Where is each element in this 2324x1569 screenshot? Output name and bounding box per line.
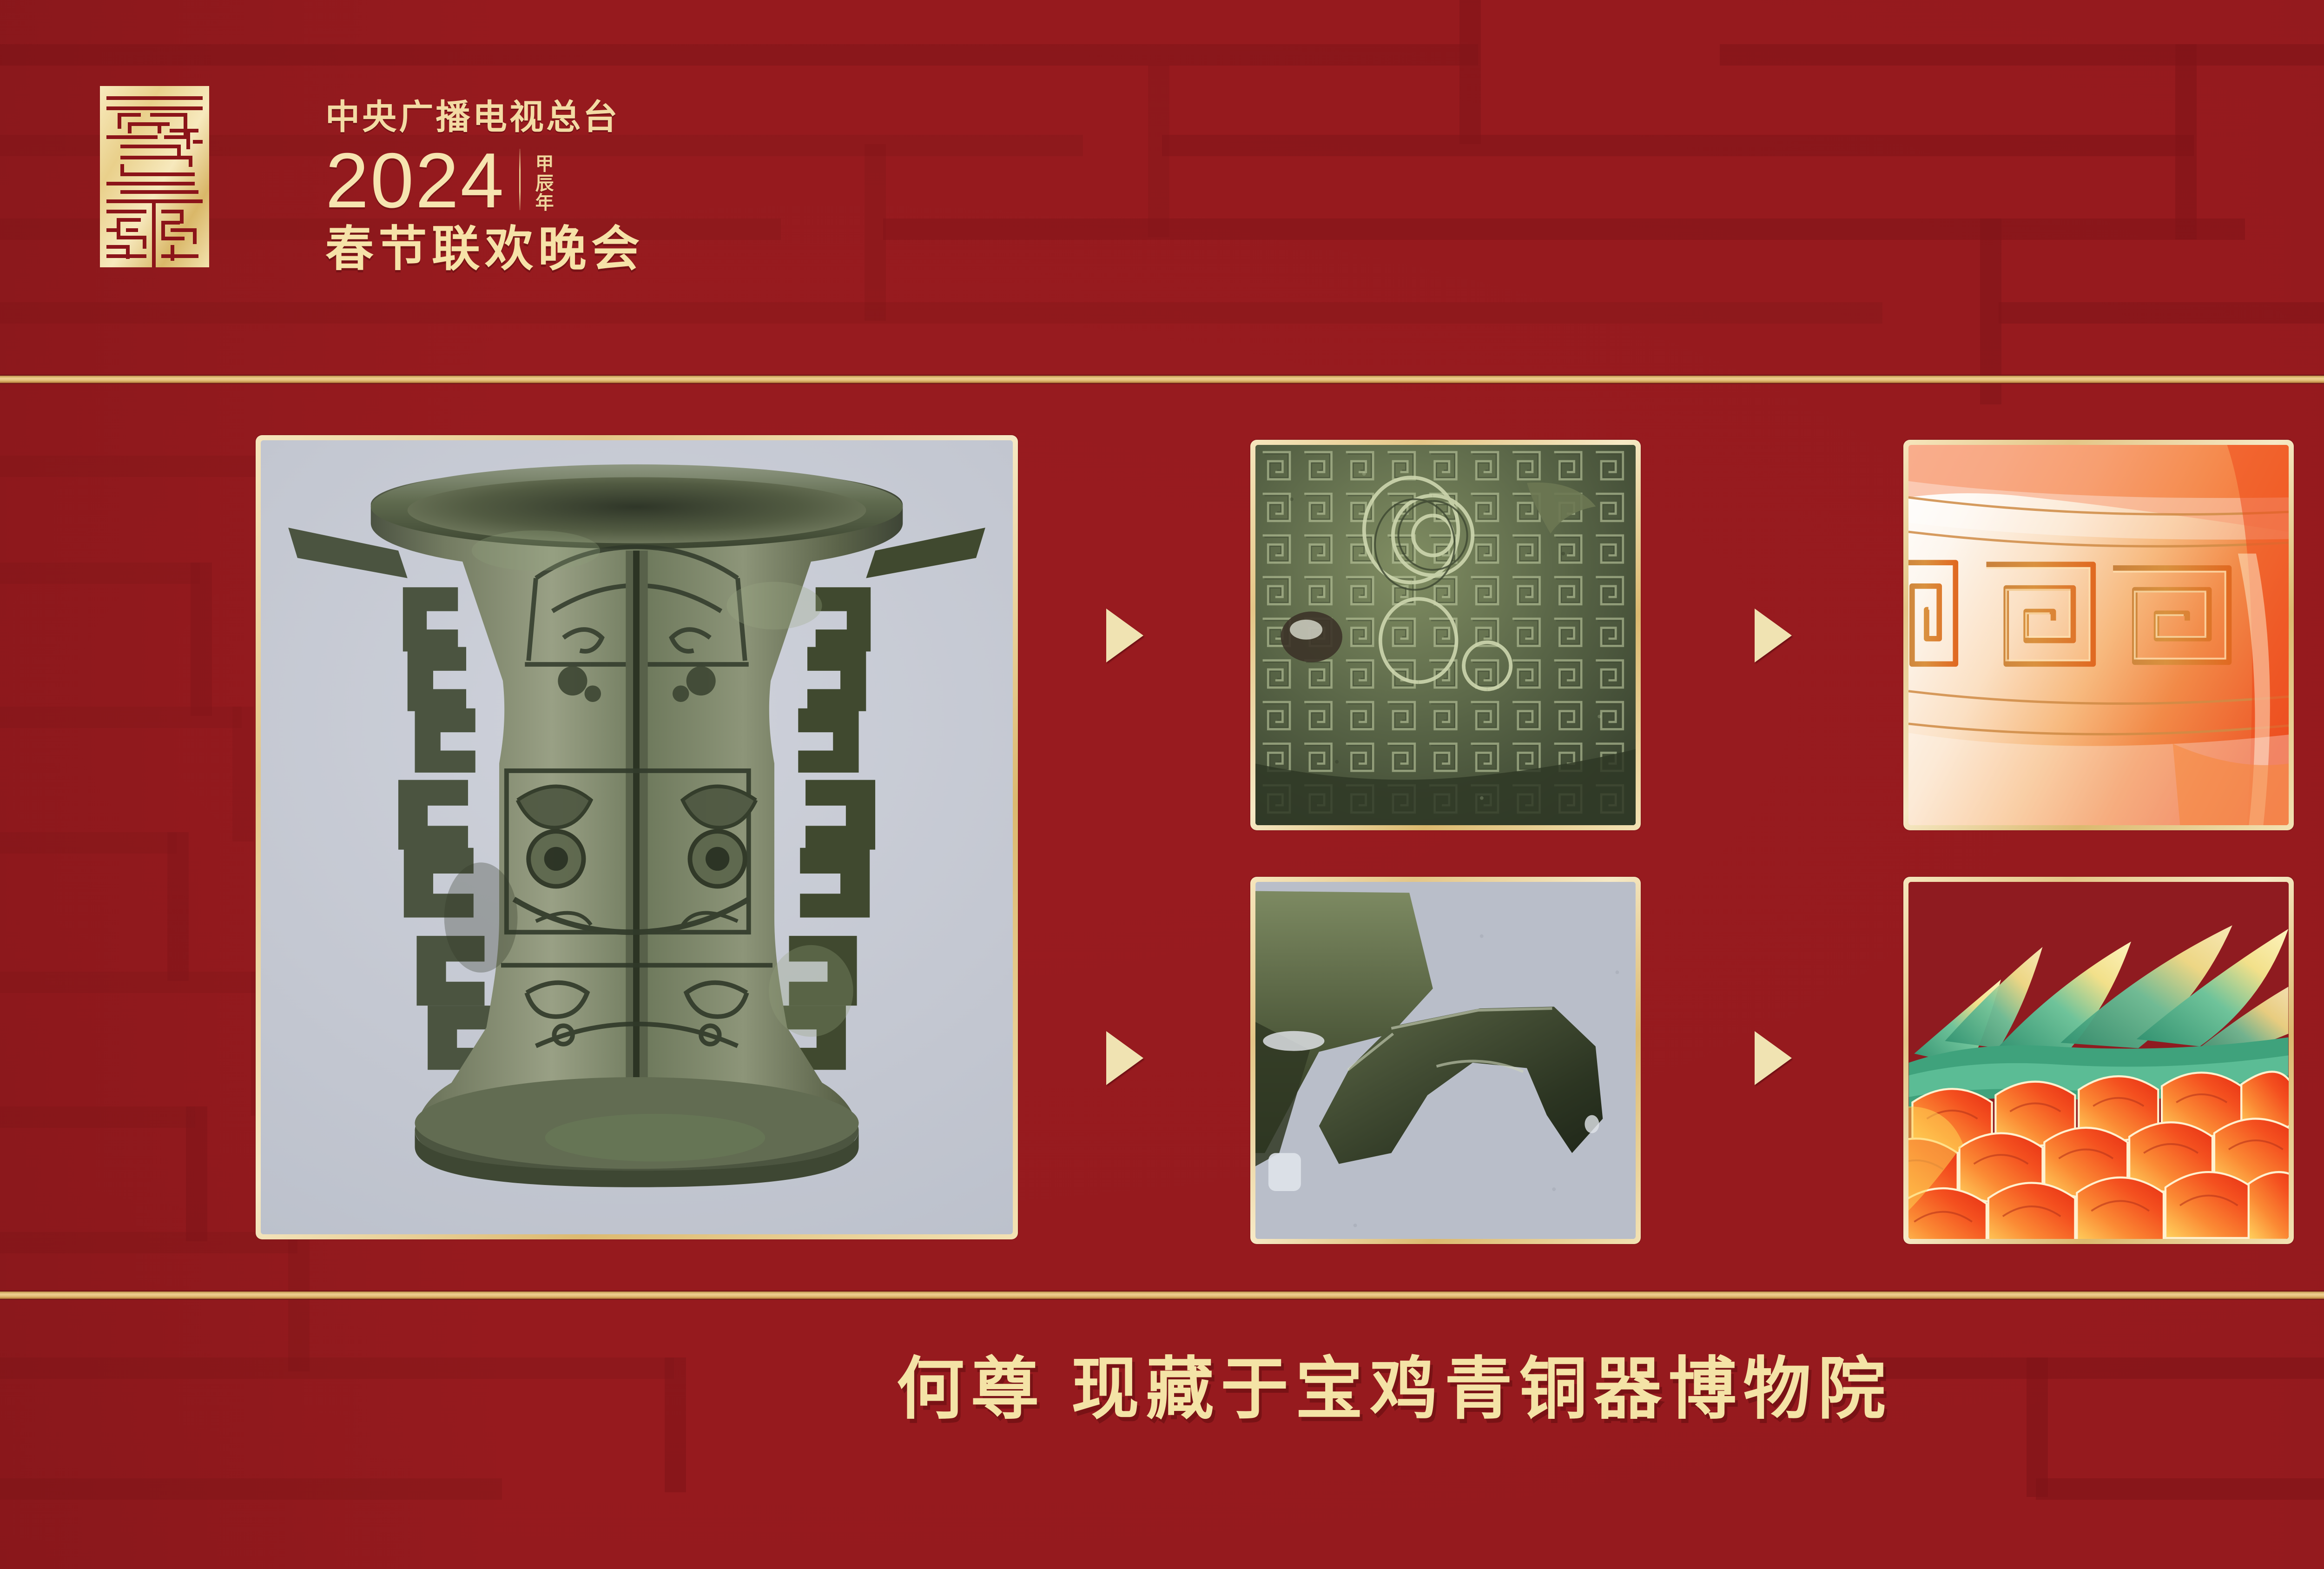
- organization-name: 中央广播电视总台: [325, 100, 644, 134]
- bronze-flange-detail-frame: [1250, 877, 1641, 1244]
- arrow-icon: [1755, 609, 1792, 662]
- illustration-dragon-spine-art: [1908, 882, 2289, 1239]
- content-area: 龙 腹 龙 脊: [0, 384, 2324, 1291]
- illustration-dragon-belly-frame: [1903, 440, 2294, 830]
- he-zun-full-vessel-frame: [256, 435, 1018, 1239]
- he-zun-full-vessel-photo: [261, 440, 1013, 1234]
- bronze-flange-detail-photo: [1255, 882, 1636, 1239]
- header-band: 中央广播电视总台 2024 甲辰年 春节联欢晚会 央视 新 闻: [0, 0, 2324, 375]
- artifact-caption: 何尊 现藏于宝鸡青铜器博物院: [0, 1334, 2324, 1432]
- bronze-belly-detail-frame: [1250, 440, 1641, 830]
- gala-title: 春节联欢晚会: [325, 225, 644, 273]
- bronze-belly-detail-photo: [1255, 445, 1636, 825]
- arrow-icon: [1106, 1031, 1143, 1085]
- ganzhi-year: 甲辰年: [533, 154, 552, 212]
- illustration-dragon-belly-art: [1908, 445, 2289, 825]
- arrow-icon: [1755, 1031, 1792, 1085]
- divider-top: [0, 375, 2324, 384]
- arrow-icon: [1106, 609, 1143, 662]
- year-divider: [519, 149, 521, 210]
- gala-brand-block: 中央广播电视总台 2024 甲辰年 春节联欢晚会: [325, 100, 644, 273]
- divider-bottom: [0, 1291, 2324, 1300]
- illustration-dragon-spine-frame: [1903, 877, 2294, 1244]
- gala-seal-icon: [100, 86, 209, 267]
- broadcast-graphic: 中央广播电视总台 2024 甲辰年 春节联欢晚会 央视 新 闻: [0, 0, 2324, 1569]
- gala-year: 2024: [325, 145, 505, 217]
